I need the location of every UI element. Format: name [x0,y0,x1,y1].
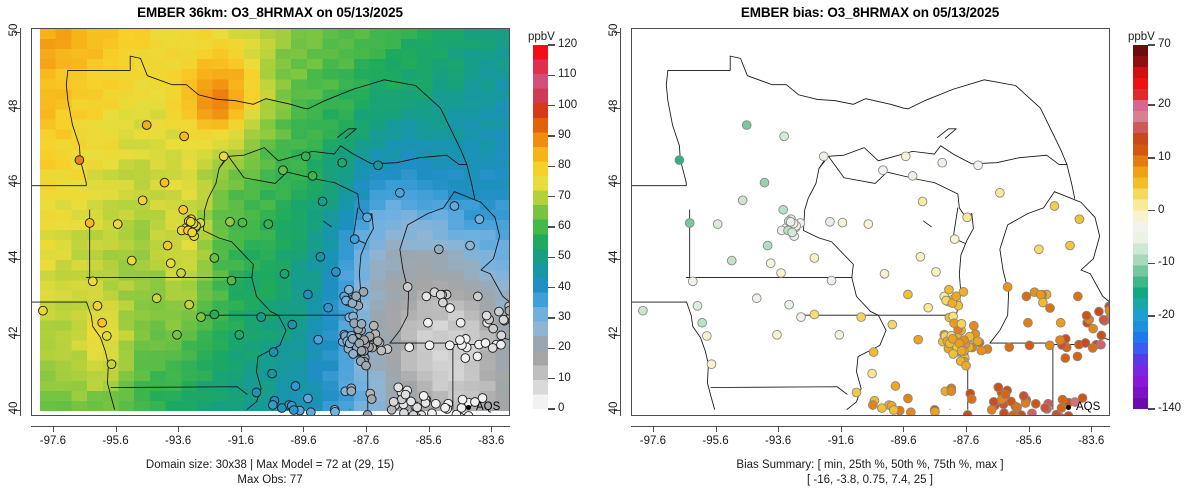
colorbar-tick [1148,44,1155,46]
aqs-site-marker [314,335,323,344]
aqs-site-marker [918,197,927,206]
x-axis-tick-label: -89.6 [273,435,333,447]
aqs-site-marker [868,401,877,410]
x-axis-tick [1029,426,1030,432]
aqs-site-marker [752,294,761,303]
colorbar-tick [548,378,555,380]
aqs-site-marker [473,292,482,301]
aqs-site-marker [788,228,797,237]
caption-bias-line2: [ -16, -3.8, 0.75, 7.4, 25 ] [600,474,1140,486]
aqs-site-marker [1073,352,1082,361]
y-axis-line [620,28,621,416]
aqs-site-marker [436,290,445,299]
aqs-site-marker [904,394,913,403]
colorbar-tick-label: 40 [558,282,571,294]
aqs-site-marker [827,276,836,285]
aqs-site-marker [473,352,482,361]
aqs-site-marker [1045,341,1054,350]
panel-title-bias: EMBER bias: O3_8HRMAX on 05/13/2025 [600,5,1140,20]
x-axis-tick [653,426,654,432]
aqs-legend-model: AQS [466,401,500,413]
aqs-site-marker [93,301,102,310]
y-axis-tick-label: 40 [608,378,620,438]
aqs-site-marker [957,319,966,328]
aqs-site-marker [428,409,437,415]
aqs-site-marker [938,158,947,167]
aqs-site-marker [1082,311,1091,320]
colorbar-tick-label: 30 [558,312,571,324]
aqs-site-marker [1003,283,1012,292]
aqs-site-marker [773,330,782,339]
x-axis-tick [778,426,779,432]
colorbar-tick [1148,263,1155,265]
aqs-site-marker [387,405,396,414]
aqs-site-marker [357,346,366,355]
x-axis-tick [903,426,904,432]
colorbar-tick [1148,210,1155,212]
aqs-site-marker [185,300,194,309]
colorbar-tick [548,317,555,319]
aqs-site-marker [1022,292,1031,301]
aqs-site-marker [797,313,806,322]
colorbar-model [533,45,548,409]
aqs-site-marker [186,217,195,226]
x-axis-tick-label: -83.6 [1061,435,1121,447]
aqs-site-marker [702,332,711,341]
aqs-site-marker [419,392,428,401]
aqs-site-marker [160,178,169,187]
aqs-site-marker [1034,245,1043,254]
aqs-site-marker [268,401,277,410]
aqs-site-marker [338,158,347,167]
aqs-site-marker [499,315,508,324]
aqs-site-marker [367,395,376,404]
x-axis-line [631,426,1110,427]
aqs-site-marker [949,350,958,359]
aqs-site-marker [857,313,866,322]
aqs-site-marker [995,188,1004,197]
aqs-site-marker [316,252,325,261]
aqs-site-marker [357,319,366,328]
aqs-site-marker [107,360,116,369]
aqs-site-marker [932,268,941,277]
aqs-site-marker [698,318,707,327]
aqs-site-marker [324,303,333,312]
aqs-site-marker [1099,315,1108,324]
colorbar-tick [1148,315,1155,317]
aqs-site-marker [786,217,795,226]
caption-model-line1: Domain size: 30x38 | Max Model = 72 at (… [0,459,540,471]
aqs-site-marker [685,219,694,228]
aqs-site-marker [838,218,847,227]
aqs-site-marker [963,213,972,222]
aqs-site-marker [693,301,702,310]
y-axis-tick-label: 46 [608,151,620,211]
aqs-site-marker [374,161,383,170]
colorbar-tick [1148,104,1155,106]
aqs-site-marker [405,343,414,352]
colorbar-tick [548,105,555,107]
aqs-site-marker [304,290,313,299]
colorbar-tick-label: 70 [1158,39,1171,51]
aqs-site-marker [252,388,261,397]
aqs-site-marker [389,397,398,406]
caption-model-line2: Max Obs: 77 [0,474,540,486]
colorbar-unit-model: ppbV [528,31,555,43]
aqs-site-marker [362,361,371,370]
aqs-site-marker [363,213,372,222]
aqs-site-marker [1025,341,1034,350]
aqs-site-marker [431,399,440,408]
aqs-site-marker [88,277,97,286]
colorbar-tick [548,257,555,259]
x-axis-tick [966,426,967,432]
aqs-site-marker [1075,215,1084,224]
colorbar-tick [1148,408,1155,410]
aqs-site-marker [1066,241,1075,250]
aqs-site-marker [497,340,506,349]
aqs-site-marker [400,409,409,415]
y-axis-tick-label: 44 [608,227,620,287]
aqs-site-marker [481,339,490,348]
aqs-site-marker [989,397,998,406]
bias-map-overlay [632,29,1109,415]
x-axis-tick [429,426,430,432]
aqs-site-marker [810,254,819,263]
aqs-site-marker [916,252,925,261]
aqs-site-marker [931,407,940,415]
aqs-site-marker [675,156,684,165]
aqs-site-marker [403,283,412,292]
aqs-site-marker [987,405,996,414]
panel-title-model: EMBER 36km: O3_8HRMAX on 05/13/2025 [0,5,540,20]
x-axis-tick-label: -83.6 [461,435,521,447]
colorbar-tick-label: 110 [558,69,576,81]
aqs-site-marker [466,241,475,250]
aqs-site-marker [1024,318,1033,327]
x-axis-tick-label: -85.6 [999,435,1059,447]
aqs-site-marker [257,313,266,322]
aqs-site-marker [977,346,986,355]
aqs-site-marker [75,156,84,165]
aqs-site-marker [1000,409,1009,415]
x-axis-tick-label: -91.6 [811,435,871,447]
aqs-site-marker [280,269,289,278]
aqs-site-marker [1038,298,1047,307]
colorbar-tick [548,166,555,168]
colorbar-tick-label: 120 [558,39,577,51]
colorbar-tick [548,348,555,350]
aqs-site-marker [227,276,236,285]
colorbar-tick [548,226,555,228]
aqs-site-marker [826,217,835,226]
aqs-site-marker [456,336,465,345]
plot-area-bias [631,28,1110,416]
aqs-site-marker [401,390,410,399]
aqs-site-marker [889,406,898,415]
y-axis-tick-label: 48 [8,76,20,136]
aqs-site-marker [450,202,459,211]
aqs-site-marker [1031,399,1040,408]
aqs-site-marker [1057,404,1066,413]
aqs-site-marker [763,241,772,250]
aqs-site-marker [1050,202,1059,211]
aqs-site-marker [952,292,961,301]
aqs-site-marker [142,121,151,130]
panel-bias-field: EMBER bias: O3_8HRMAX on 05/13/2025 AQS … [600,0,1200,502]
colorbar-tick [548,287,555,289]
aqs-site-marker [888,320,897,329]
aqs-site-marker [1097,331,1106,340]
aqs-site-marker [969,321,978,330]
colorbar-tick-label: 20 [1158,99,1171,111]
colorbar-tick-label: 20 [558,342,571,354]
aqs-site-marker [962,361,971,370]
aqs-site-marker [880,269,889,278]
panel-model-field: EMBER 36km: O3_8HRMAX on 05/13/2025 AQS … [0,0,600,502]
aqs-site-marker [1073,292,1082,301]
colorbar-bias [1133,45,1148,409]
aqs-dot-icon [466,405,471,410]
aqs-site-marker [39,306,48,315]
x-axis-tick-label: -91.6 [211,435,271,447]
aqs-site-marker [279,166,288,175]
aqs-legend-label: AQS [1076,401,1100,413]
aqs-site-marker [424,318,433,327]
aqs-site-marker [456,318,465,327]
x-axis-tick-label: -95.6 [686,435,746,447]
colorbar-tick-label: -10 [1158,257,1175,269]
aqs-site-marker [852,388,861,397]
aqs-site-marker [869,348,878,357]
aqs-site-marker [332,268,341,277]
aqs-site-marker [422,292,431,301]
aqs-site-marker [304,394,313,403]
x-axis-tick [116,426,117,432]
aqs-site-marker [727,256,736,265]
aqs-site-marker [1041,403,1050,412]
aqs-site-marker [138,196,147,205]
x-axis-tick [366,426,367,432]
aqs-site-marker [373,337,382,346]
aqs-site-marker [177,269,186,278]
aqs-site-marker [188,228,197,237]
aqs-site-marker [445,341,454,350]
aqs-site-marker [707,360,716,369]
aqs-site-marker [268,369,277,378]
aqs-site-marker [945,285,954,294]
aqs-site-marker [1056,318,1065,327]
x-axis-tick-label: -85.6 [399,435,459,447]
model-map-overlay [32,29,509,415]
colorbar-tick-label: 80 [558,160,571,172]
aqs-site-marker [457,404,466,413]
x-axis-tick-label: -95.6 [86,435,146,447]
colorbar-tick-label: 70 [558,191,571,203]
x-axis-tick [1091,426,1092,432]
aqs-site-marker [350,235,359,244]
aqs-site-marker [864,220,873,229]
aqs-site-marker [1089,324,1098,333]
map-boundaries [32,56,509,409]
aqs-site-marker [963,411,972,415]
aqs-site-marker [810,310,819,319]
map-boundaries [632,56,1109,409]
aqs-site-marker [210,254,219,263]
x-axis-tick-label: -87.6 [936,435,996,447]
aqs-site-marker [914,335,923,344]
aqs-site-marker [166,259,175,268]
aqs-site-marker [291,382,300,391]
aqs-site-marker [1036,290,1045,299]
aqs-site-marker [235,330,244,339]
aqs-bias-markers [639,121,1109,415]
aqs-site-marker [785,300,794,309]
figure-root: EMBER 36km: O3_8HRMAX on 05/13/2025 AQS … [0,0,1200,502]
aqs-site-marker [819,152,828,161]
aqs-site-marker [738,196,747,205]
aqs-site-marker [377,346,386,355]
aqs-site-marker [180,132,189,141]
aqs-site-marker [950,235,959,244]
colorbar-tick-label: 10 [558,373,571,385]
aqs-observation-markers [39,121,509,415]
caption-bias-line1: Bias Summary: [ min, 25th %, 50th %, 75t… [600,459,1140,471]
aqs-site-marker [179,205,188,214]
aqs-site-marker [113,220,122,229]
aqs-site-marker [482,311,491,320]
x-axis-tick [241,426,242,432]
aqs-site-marker [713,220,722,229]
colorbar-tick [1148,157,1155,159]
aqs-site-marker [152,294,161,303]
aqs-site-marker [967,395,976,404]
aqs-site-marker [495,307,504,316]
x-axis-tick [716,426,717,432]
aqs-site-marker [878,404,887,413]
aqs-site-marker [461,354,470,363]
aqs-site-marker [901,152,910,161]
y-axis-tick-label: 42 [8,303,20,363]
colorbar-tick-label: 50 [558,251,571,263]
aqs-site-marker [306,408,315,415]
colorbar-tick-label: 60 [558,221,571,233]
x-axis-tick [303,426,304,432]
aqs-site-marker [163,241,172,250]
aqs-site-marker [269,348,278,357]
aqs-site-marker [891,382,900,391]
aqs-dot-icon [1066,405,1071,410]
y-axis-line [20,28,21,416]
colorbar-tick [548,135,555,137]
colorbar-tick [548,196,555,198]
aqs-site-marker [835,330,844,339]
colorbar-tick-label: 0 [558,403,564,415]
aqs-site-marker [904,290,913,299]
aqs-site-marker [1001,390,1010,399]
aqs-site-marker [908,171,917,180]
aqs-site-marker [1019,392,1028,401]
x-axis-tick-label: -93.6 [748,435,808,447]
x-axis-tick-label: -97.6 [623,435,683,447]
aqs-site-marker [102,332,111,341]
aqs-site-marker [1056,336,1065,345]
aqs-site-marker [947,387,956,396]
aqs-site-marker [879,166,888,175]
colorbar-tick [548,408,555,410]
aqs-site-marker [349,350,358,359]
x-axis-tick-label: -93.6 [148,435,208,447]
aqs-site-marker [868,369,877,378]
y-axis-tick-label: 42 [608,303,620,363]
y-axis-tick-label: 50 [8,0,20,60]
aqs-site-marker [197,313,206,322]
aqs-site-marker [1028,409,1037,415]
x-axis-tick [178,426,179,432]
aqs-site-marker [173,330,182,339]
aqs-site-marker [98,318,107,327]
x-axis-tick [53,426,54,432]
aqs-site-marker [1005,343,1014,352]
colorbar-tick [548,44,555,46]
x-axis-tick-label: -97.6 [23,435,83,447]
aqs-site-marker [742,121,751,130]
aqs-site-marker [331,407,340,415]
aqs-site-marker [1095,307,1104,316]
x-axis-line [31,426,510,427]
aqs-site-marker [777,269,786,278]
aqs-legend-label: AQS [476,401,500,413]
aqs-site-marker [489,324,498,333]
aqs-site-marker [347,387,356,396]
aqs-site-marker [318,197,327,206]
aqs-site-marker [639,306,648,315]
y-axis-tick-label: 48 [608,76,620,136]
aqs-site-marker [994,383,1003,392]
aqs-site-marker [434,245,443,254]
colorbar-tick-label: 10 [1158,152,1171,164]
colorbar-tick-label: -140 [1158,403,1181,415]
colorbar-tick-label: 0 [1158,205,1164,217]
aqs-site-marker [278,404,287,413]
aqs-site-marker [425,341,434,350]
y-axis-tick-label: 40 [8,378,20,438]
aqs-site-marker [438,298,447,307]
colorbar-tick-label: -20 [1158,310,1175,322]
aqs-site-marker [352,292,361,301]
aqs-site-marker [219,152,228,161]
aqs-site-marker [301,152,310,161]
aqs-site-marker [766,259,775,268]
x-axis-tick-label: -89.6 [873,435,933,447]
aqs-legend-bias: AQS [1066,401,1100,413]
aqs-site-marker [394,383,403,392]
aqs-site-marker [226,217,235,226]
aqs-site-marker [957,346,966,355]
aqs-site-marker [308,171,317,180]
aqs-site-marker [369,321,378,330]
aqs-site-marker [289,406,298,415]
colorbar-tick-label: 100 [558,100,577,112]
aqs-site-marker [395,188,404,197]
colorbar-unit-bias: ppbV [1128,31,1155,43]
aqs-site-marker [210,310,219,319]
aqs-site-marker [974,161,983,170]
x-axis-tick [491,426,492,432]
aqs-site-marker [127,256,136,265]
x-axis-tick-label: -87.6 [336,435,396,447]
aqs-site-marker [760,178,769,187]
